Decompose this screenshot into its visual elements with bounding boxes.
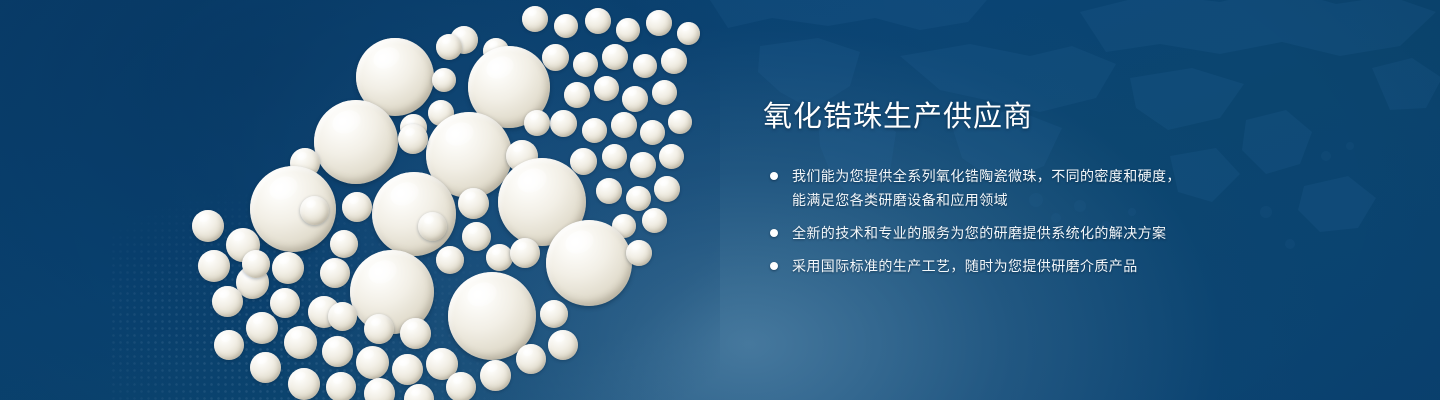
- banner-content: 氧化锆珠生产供应商 我们能为您提供全系列氧化锆陶瓷微珠，不同的密度和硬度， 能满…: [763, 100, 1243, 278]
- bullet-line: 我们能为您提供全系列氧化锆陶瓷微珠，不同的密度和硬度，: [792, 164, 1243, 188]
- bullet-dot-icon: [770, 172, 778, 180]
- bullet-line: 能满足您各类研磨设备和应用领域: [792, 188, 1243, 212]
- hero-banner: 氧化锆珠生产供应商 我们能为您提供全系列氧化锆陶瓷微珠，不同的密度和硬度， 能满…: [0, 0, 1440, 400]
- feature-bullet-list: 我们能为您提供全系列氧化锆陶瓷微珠，不同的密度和硬度， 能满足您各类研磨设备和应…: [763, 164, 1243, 278]
- bullet-line: 全新的技术和专业的服务为您的研磨提供系统化的解决方案: [792, 221, 1243, 245]
- list-item: 采用国际标准的生产工艺，随时为您提供研磨介质产品: [763, 254, 1243, 278]
- list-item: 全新的技术和专业的服务为您的研磨提供系统化的解决方案: [763, 221, 1243, 245]
- list-item: 我们能为您提供全系列氧化锆陶瓷微珠，不同的密度和硬度， 能满足您各类研磨设备和应…: [763, 164, 1243, 212]
- page-title: 氧化锆珠生产供应商: [763, 100, 1243, 134]
- bullet-dot-icon: [770, 262, 778, 270]
- bullet-line: 采用国际标准的生产工艺，随时为您提供研磨介质产品: [792, 254, 1243, 278]
- bullet-dot-icon: [770, 229, 778, 237]
